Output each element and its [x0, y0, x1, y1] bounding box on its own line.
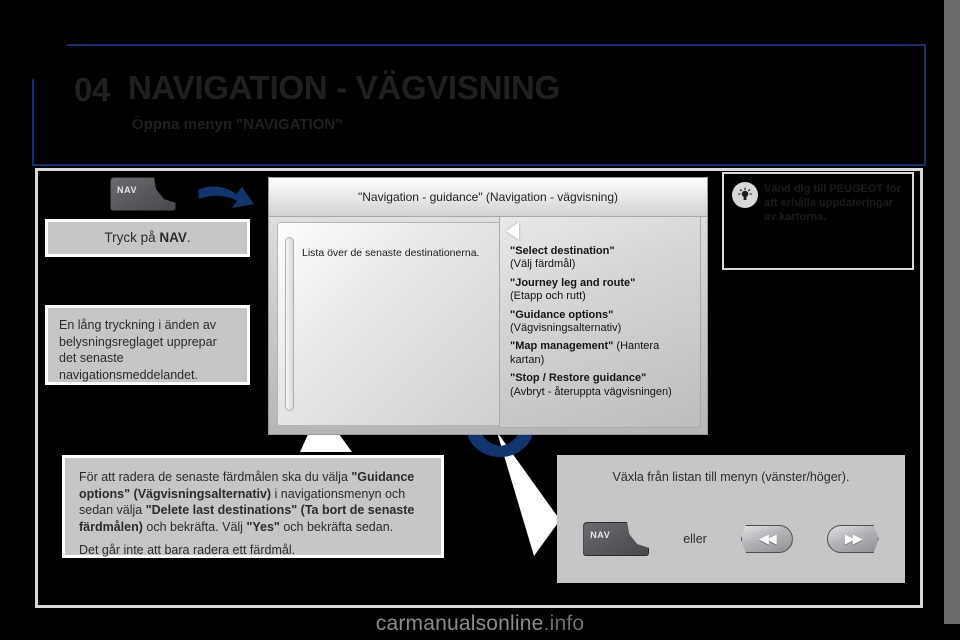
screen-body: Lista över de senaste destinationerna. "…	[277, 222, 699, 426]
page-root: 04 NAVIGATION - VÄGVISNING Öppna menyn "…	[0, 0, 960, 640]
navigation-menu-items: "Select destination" (Välj färdmål)"Jour…	[510, 245, 694, 404]
recent-destinations-list-pane[interactable]: Lista över de senaste destinationerna.	[277, 222, 505, 426]
watermark-text: carmanualsonline	[376, 612, 544, 635]
switch-controls-row: NAV eller ◀◀ ▶▶	[557, 513, 905, 565]
callout-press-nav-text: Tryck på NAV.	[104, 229, 190, 247]
delete-paragraph-2: Det går inte att bara radera ett färdmål…	[79, 542, 427, 559]
tip-note-text: Vänd dig till PEUGEOT för att erhålla up…	[764, 182, 906, 224]
watermark: carmanualsonline.info	[0, 612, 960, 636]
menu-item-2[interactable]: "Guidance options" (Vägvisningsalternati…	[510, 309, 694, 336]
nav-button-label: NAV	[117, 185, 137, 195]
menu-item-1[interactable]: "Journey leg and route" (Etapp och rutt)	[510, 277, 694, 304]
callout-long-press: En lång tryckning i änden av belysningsr…	[45, 305, 250, 385]
nav-stalk-button-top[interactable]: NAV	[110, 177, 176, 211]
menu-item-0-sv: (Välj färdmål)	[510, 258, 694, 271]
menu-item-0[interactable]: "Select destination" (Välj färdmål)	[510, 245, 694, 272]
screen-title: "Navigation - guidance" (Navigation - vä…	[269, 178, 707, 217]
or-label: eller	[683, 532, 707, 546]
menu-item-1-en: "Journey leg and route"	[510, 277, 635, 289]
menu-item-4[interactable]: "Stop / Restore guidance" (Avbryt - åter…	[510, 372, 694, 399]
lightbulb-tip-icon	[732, 182, 758, 208]
rocker-previous-button[interactable]: ◀◀	[741, 525, 793, 553]
delete-f: "Yes"	[246, 520, 279, 534]
watermark-suffix: .info	[544, 612, 585, 635]
nav-button-label-bottom: NAV	[590, 530, 610, 540]
blue-arrow-right-icon	[196, 182, 258, 218]
delete-a: För att radera de senaste färdmålen ska …	[79, 470, 351, 484]
callout-press-nav: Tryck på NAV.	[45, 219, 250, 257]
menu-item-3[interactable]: "Map management" (Hantera kartan)	[510, 340, 694, 367]
callout-delete-destinations: För att radera de senaste färdmålen ska …	[62, 455, 444, 558]
back-arrow-icon[interactable]	[506, 222, 519, 240]
lightbulb-glyph	[737, 187, 753, 203]
navigation-menu-pane[interactable]: "Select destination" (Välj färdmål)"Jour…	[499, 216, 701, 428]
press-nav-bold: NAV	[159, 230, 187, 245]
panel-switch-list-menu: Växla från listan till menyn (vänster/hö…	[557, 455, 905, 583]
nav-button-graphic[interactable]: NAV	[110, 177, 176, 211]
infotainment-screen: "Navigation - guidance" (Navigation - vä…	[268, 177, 708, 435]
rocker-next-button[interactable]: ▶▶	[827, 525, 879, 553]
menu-item-1-sv: (Etapp och rutt)	[510, 290, 694, 303]
nav-stalk-button-bottom[interactable]: NAV	[583, 522, 649, 556]
fast-forward-icon: ▶▶	[845, 531, 861, 547]
delete-e: och bekräfta. Välj	[143, 520, 247, 534]
recent-destinations-label: Lista över de senaste destinationerna.	[302, 247, 496, 259]
menu-item-2-en: "Guidance options"	[510, 309, 613, 321]
menu-item-2-sv: (Vägvisningsalternativ)	[510, 322, 694, 335]
delete-g: och bekräfta sedan.	[280, 520, 393, 534]
switch-caption: Växla från listan till menyn (vänster/hö…	[557, 470, 905, 484]
delete-paragraph-1: För att radera de senaste färdmålen ska …	[79, 469, 427, 535]
menu-item-4-en: "Stop / Restore guidance"	[510, 372, 646, 384]
press-nav-prefix: Tryck på	[104, 230, 159, 245]
list-scrollbar[interactable]	[285, 237, 294, 411]
press-nav-suffix: .	[187, 230, 191, 245]
tip-note-box: Vänd dig till PEUGEOT för att erhålla up…	[722, 172, 914, 270]
menu-item-4-sv: (Avbryt - återuppta vägvisningen)	[510, 386, 694, 399]
rewind-icon: ◀◀	[759, 531, 775, 547]
menu-item-3-en: "Map management"	[510, 340, 613, 352]
menu-item-0-en: "Select destination"	[510, 245, 615, 257]
